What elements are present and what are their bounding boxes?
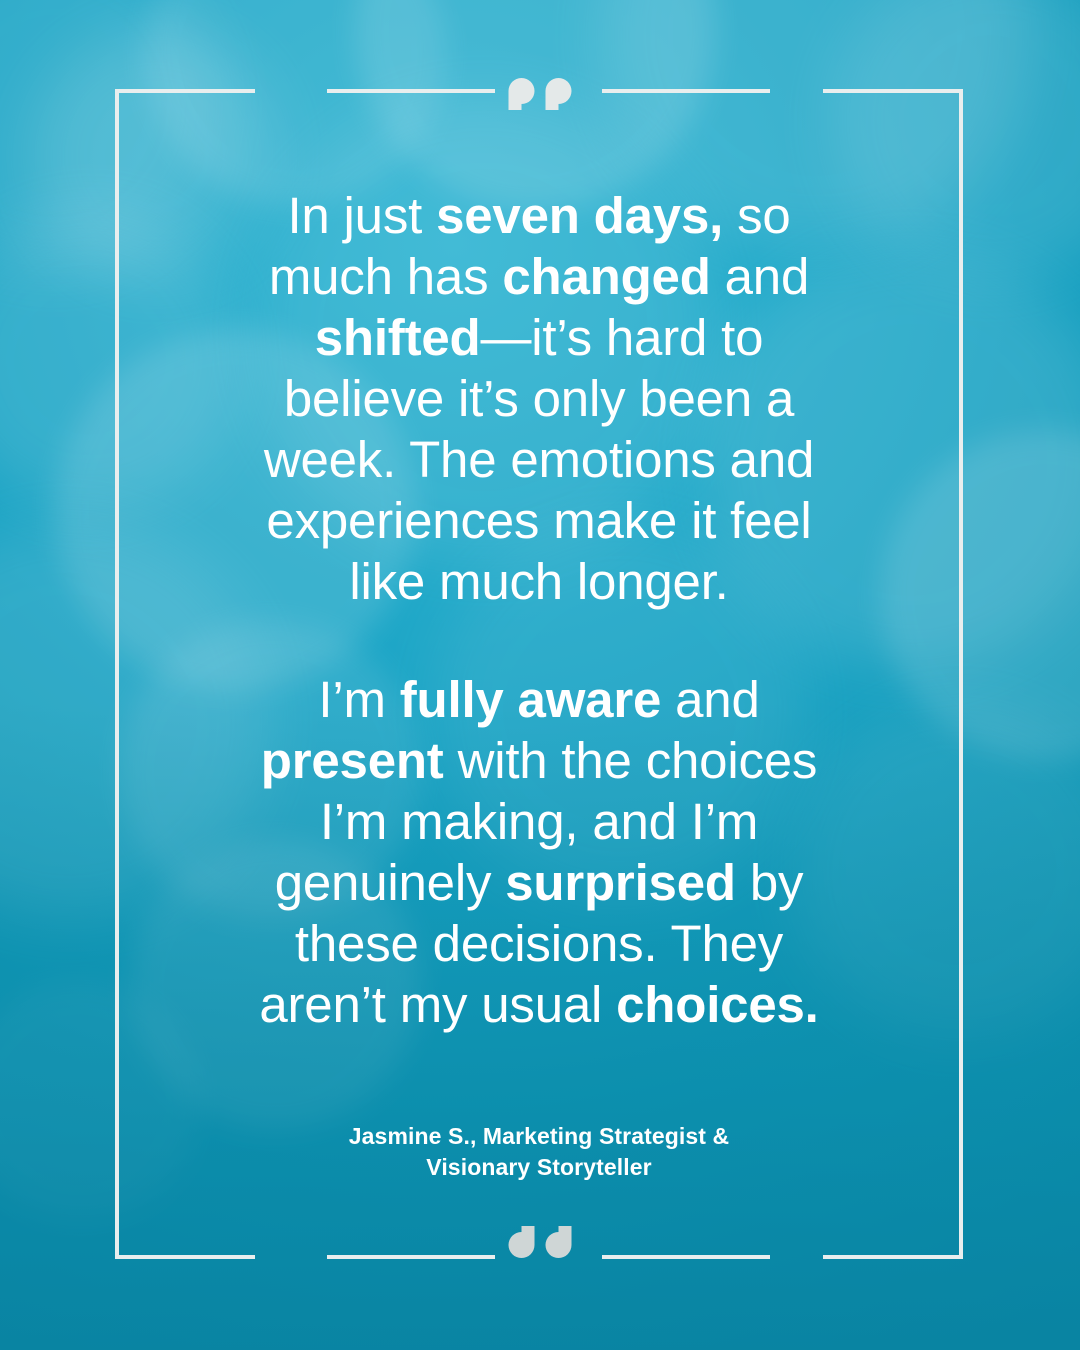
attribution-line-2: Visionary Storyteller bbox=[349, 1152, 729, 1183]
quote-card: In just seven days, so much has changed … bbox=[0, 0, 1080, 1350]
attribution: Jasmine S., Marketing Strategist & Visio… bbox=[349, 1121, 729, 1183]
quote-content: In just seven days, so much has changed … bbox=[155, 89, 923, 1259]
frame-right-edge bbox=[959, 89, 963, 1259]
frame-left-edge bbox=[115, 89, 119, 1259]
attribution-line-1: Jasmine S., Marketing Strategist & bbox=[349, 1121, 729, 1152]
quote-paragraph-2: I’m fully aware and present with the cho… bbox=[229, 669, 849, 1035]
quote-paragraph-1: In just seven days, so much has changed … bbox=[229, 185, 849, 612]
